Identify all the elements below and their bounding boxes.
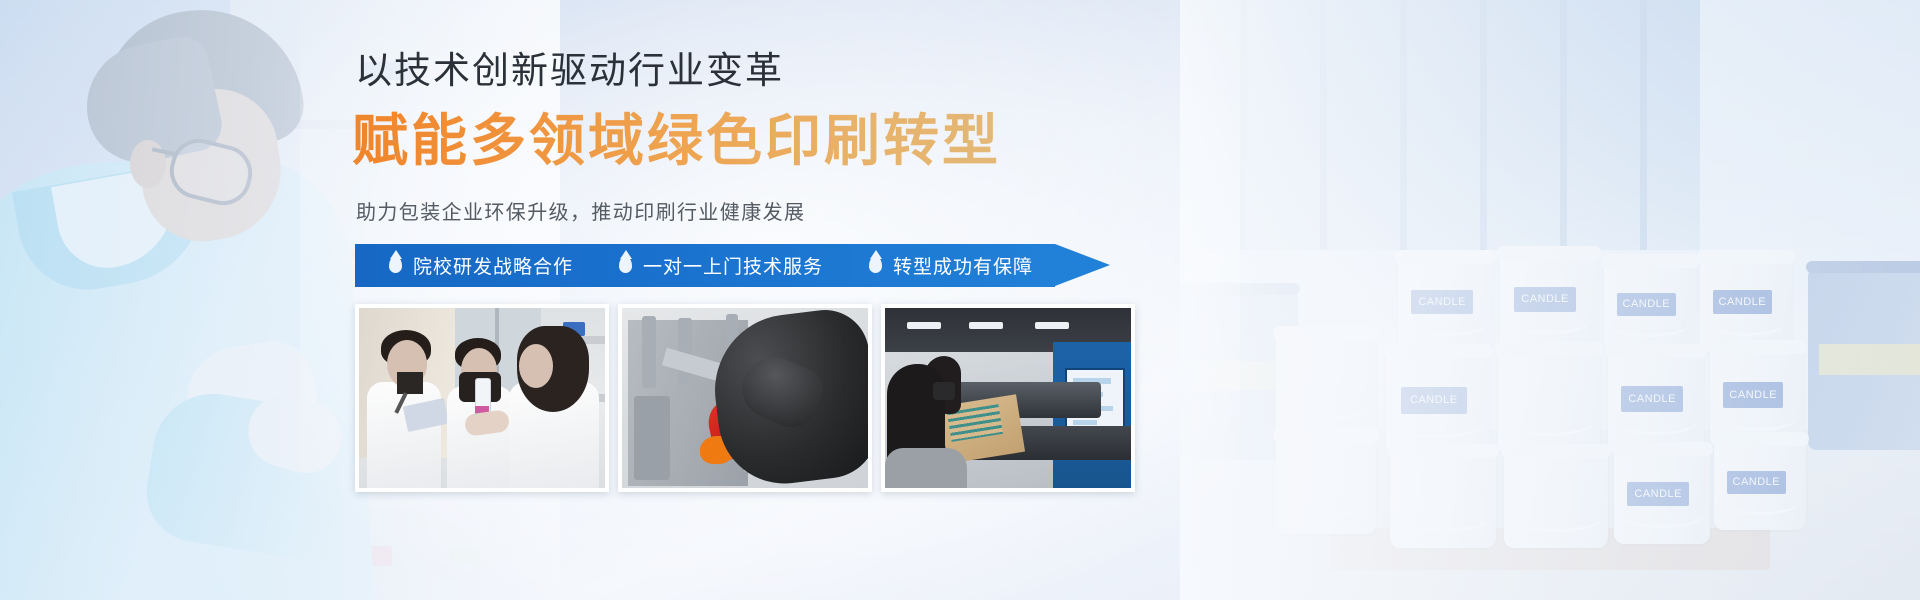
researcher-head <box>519 344 553 388</box>
ceiling-light <box>1035 322 1069 329</box>
ribbon-item-label: 一对一上门技术服务 <box>643 252 823 279</box>
photo-ink-application-image <box>622 308 868 488</box>
droplet-icon <box>869 256 882 273</box>
photo-digital-printing-image <box>885 308 1131 488</box>
ribbon-item-label: 转型成功有保障 <box>893 252 1033 279</box>
ribbon-item-onsite-service[interactable]: 一对一上门技术服务 <box>619 252 823 279</box>
ceiling-light <box>907 322 941 329</box>
photo-lab-research-team[interactable] <box>355 304 609 492</box>
photo-strip <box>355 304 1135 492</box>
worker-face-mask <box>933 382 955 400</box>
banner-content: 以技术创新驱动行业变革 赋能多领域绿色印刷转型 助力包装企业环保升级，推动印刷行… <box>0 0 1920 600</box>
ribbon-item-rd-cooperation[interactable]: 院校研发战略合作 <box>389 252 573 279</box>
photo-digital-printing[interactable] <box>881 304 1135 492</box>
machine-base <box>634 396 670 480</box>
researcher-inner-shirt <box>397 372 423 394</box>
ribbon-item-label: 院校研发战略合作 <box>413 252 573 279</box>
screen-line <box>1073 420 1097 425</box>
banner-headline: 赋能多领域绿色印刷转型 <box>352 96 1001 177</box>
photo-lab-research-team-image <box>359 308 605 488</box>
hero-banner: CANDLE CANDLE CANDLE CANDLE CANDLE <box>0 0 1920 600</box>
droplet-icon <box>389 256 402 273</box>
ribbon-items: 院校研发战略合作 一对一上门技术服务 转型成功有保障 <box>355 244 1055 287</box>
droplet-icon <box>619 256 632 273</box>
worker-body <box>885 448 967 488</box>
ribbon-item-transformation-guarantee[interactable]: 转型成功有保障 <box>869 252 1033 279</box>
ribbon-arrow-tip <box>1055 244 1110 286</box>
feature-ribbon: 院校研发战略合作 一对一上门技术服务 转型成功有保障 <box>355 244 1110 287</box>
banner-tagline: 助力包装企业环保升级，推动印刷行业健康发展 <box>356 196 805 225</box>
banner-subheadline: 以技术创新驱动行业变革 <box>355 40 784 94</box>
machine-post <box>642 316 656 388</box>
ceiling-light <box>969 322 1003 329</box>
photo-ink-application[interactable] <box>618 304 872 492</box>
